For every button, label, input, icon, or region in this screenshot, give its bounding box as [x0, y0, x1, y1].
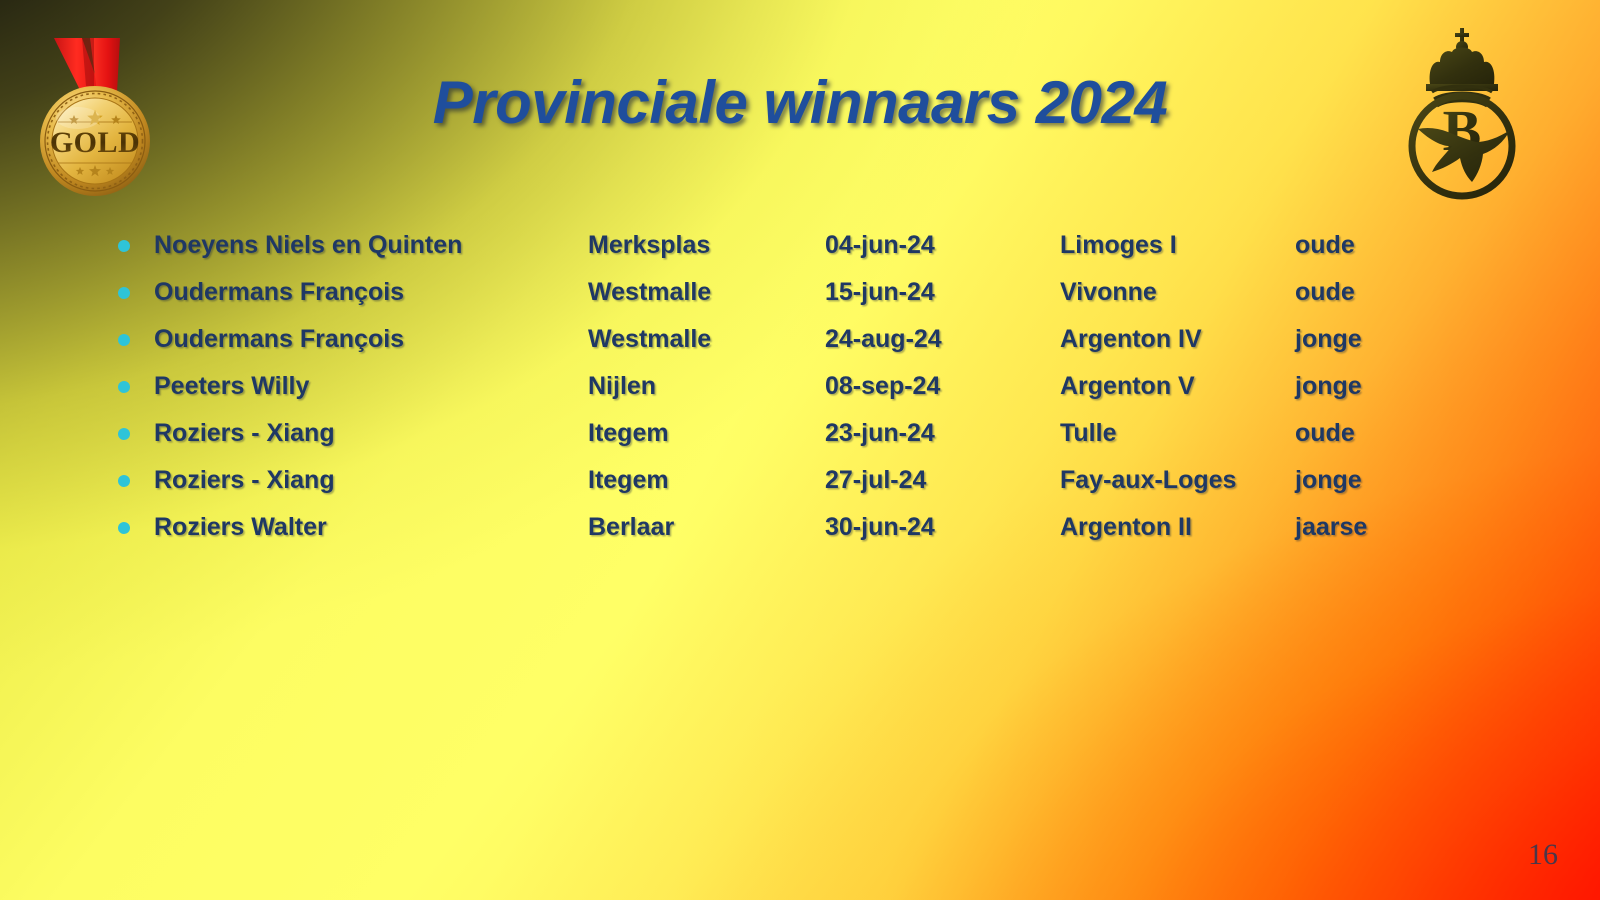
bullet-icon — [118, 381, 130, 393]
winner-date: 15-jun-24 — [825, 269, 935, 316]
winner-category: jonge — [1295, 316, 1362, 363]
bullet-icon — [118, 240, 130, 252]
bullet-icon — [118, 428, 130, 440]
bullet-icon — [118, 475, 130, 487]
list-item: Peeters Willy Nijlen 08-sep-24 Argenton … — [118, 363, 1538, 410]
winner-category: jaarse — [1295, 504, 1367, 551]
winner-category: oude — [1295, 410, 1355, 457]
list-item: Roziers Walter Berlaar 30-jun-24 Argento… — [118, 504, 1538, 551]
bullet-icon — [118, 334, 130, 346]
winner-date: 23-jun-24 — [825, 410, 935, 457]
winner-category: jonge — [1295, 457, 1362, 504]
winner-date: 27-jul-24 — [825, 457, 926, 504]
bullet-icon — [118, 287, 130, 299]
winner-club: Westmalle — [588, 316, 711, 363]
winner-name: Noeyens Niels en Quinten — [154, 222, 462, 269]
list-item: Oudermans François Westmalle 15-jun-24 V… — [118, 269, 1538, 316]
list-item: Noeyens Niels en Quinten Merksplas 04-ju… — [118, 222, 1538, 269]
winner-race: Fay-aux-Loges — [1060, 457, 1236, 504]
winner-club: Merksplas — [588, 222, 710, 269]
winner-race: Limoges I — [1060, 222, 1177, 269]
winner-name: Peeters Willy — [154, 363, 309, 410]
winner-date: 04-jun-24 — [825, 222, 935, 269]
provincial-winners-list: Noeyens Niels en Quinten Merksplas 04-ju… — [118, 222, 1538, 551]
winner-club: Berlaar — [588, 504, 674, 551]
list-item: Roziers - Xiang Itegem 23-jun-24 Tulle o… — [118, 410, 1538, 457]
page-title: Provinciale winnaars 2024 — [0, 68, 1600, 137]
winner-name: Roziers Walter — [154, 504, 327, 551]
winner-race: Argenton IV — [1060, 316, 1202, 363]
winner-race: Tulle — [1060, 410, 1116, 457]
winner-date: 08-sep-24 — [825, 363, 940, 410]
winner-name: Roziers - Xiang — [154, 410, 335, 457]
winner-name: Roziers - Xiang — [154, 457, 335, 504]
winner-name: Oudermans François — [154, 316, 404, 363]
winner-category: oude — [1295, 222, 1355, 269]
winner-category: jonge — [1295, 363, 1362, 410]
list-item: Roziers - Xiang Itegem 27-jul-24 Fay-aux… — [118, 457, 1538, 504]
winner-date: 30-jun-24 — [825, 504, 935, 551]
bullet-icon — [118, 522, 130, 534]
page-number: 16 — [1528, 838, 1558, 872]
winner-club: Westmalle — [588, 269, 711, 316]
winner-category: oude — [1295, 269, 1355, 316]
winner-race: Argenton V — [1060, 363, 1195, 410]
winner-date: 24-aug-24 — [825, 316, 942, 363]
winner-club: Nijlen — [588, 363, 656, 410]
winner-club: Itegem — [588, 457, 669, 504]
list-item: Oudermans François Westmalle 24-aug-24 A… — [118, 316, 1538, 363]
winner-race: Vivonne — [1060, 269, 1157, 316]
winner-race: Argenton II — [1060, 504, 1192, 551]
winner-club: Itegem — [588, 410, 669, 457]
winner-name: Oudermans François — [154, 269, 404, 316]
